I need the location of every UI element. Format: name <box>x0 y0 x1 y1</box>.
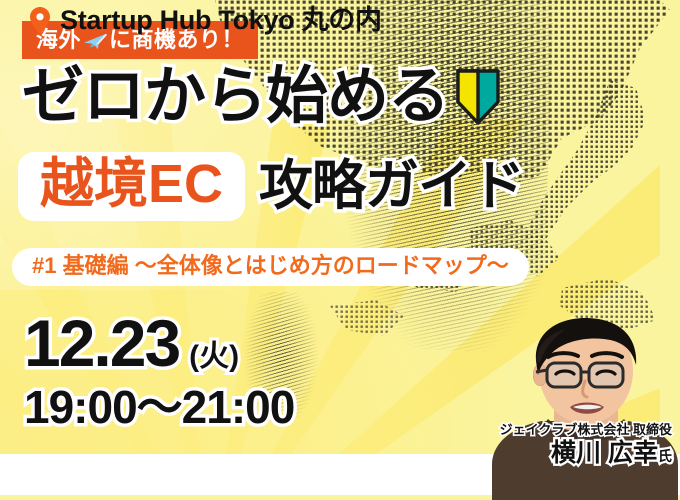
speaker-company-title: ジェイクラブ株式会社 取締役 <box>500 423 672 437</box>
headline-line-1-text: ゼロから始める <box>22 66 449 128</box>
speaker-credit: ジェイクラブ株式会社 取締役 横川 広幸氏 <box>500 423 672 467</box>
headline-line-1: ゼロから始める <box>22 66 501 128</box>
event-date-row: 12.23 (火) <box>24 310 239 376</box>
map-pin-icon <box>30 7 50 34</box>
speaker-name: 横川 広幸 <box>551 439 658 467</box>
speaker-honorific: 氏 <box>658 448 672 464</box>
venue-name: Startup Hub Tokyo 丸の内 <box>60 7 382 34</box>
speaker-name-row: 横川 広幸氏 <box>500 440 672 468</box>
headline-line-2-text: 攻略ガイド <box>259 158 524 215</box>
highlight-pill-ec: 越境EC <box>18 152 245 221</box>
subtitle-text: #1 基礎編 ～全体像とはじめ方のロードマップ～ <box>32 253 509 278</box>
event-time: 19:00〜21:00 <box>24 381 294 433</box>
event-date: 12.23 <box>24 310 179 376</box>
speaker-portrait <box>490 315 680 500</box>
headline-line-2: 越境EC 攻略ガイド <box>18 152 524 221</box>
venue-info: Startup Hub Tokyo 丸の内 <box>30 0 382 41</box>
event-day-of-week: (火) <box>189 342 239 372</box>
shoshinsha-beginner-mark-icon <box>455 68 501 126</box>
subtitle-pill: #1 基礎編 ～全体像とはじめ方のロードマップ～ <box>12 248 529 286</box>
event-banner: 海外 に商機あり！ ゼロから始める 越境EC 攻略ガイド #1 基礎編 ～全体像… <box>0 0 680 500</box>
event-time-row: 19:00〜21:00 <box>24 384 294 430</box>
highlight-pill-ec-text: 越境EC <box>40 156 223 213</box>
